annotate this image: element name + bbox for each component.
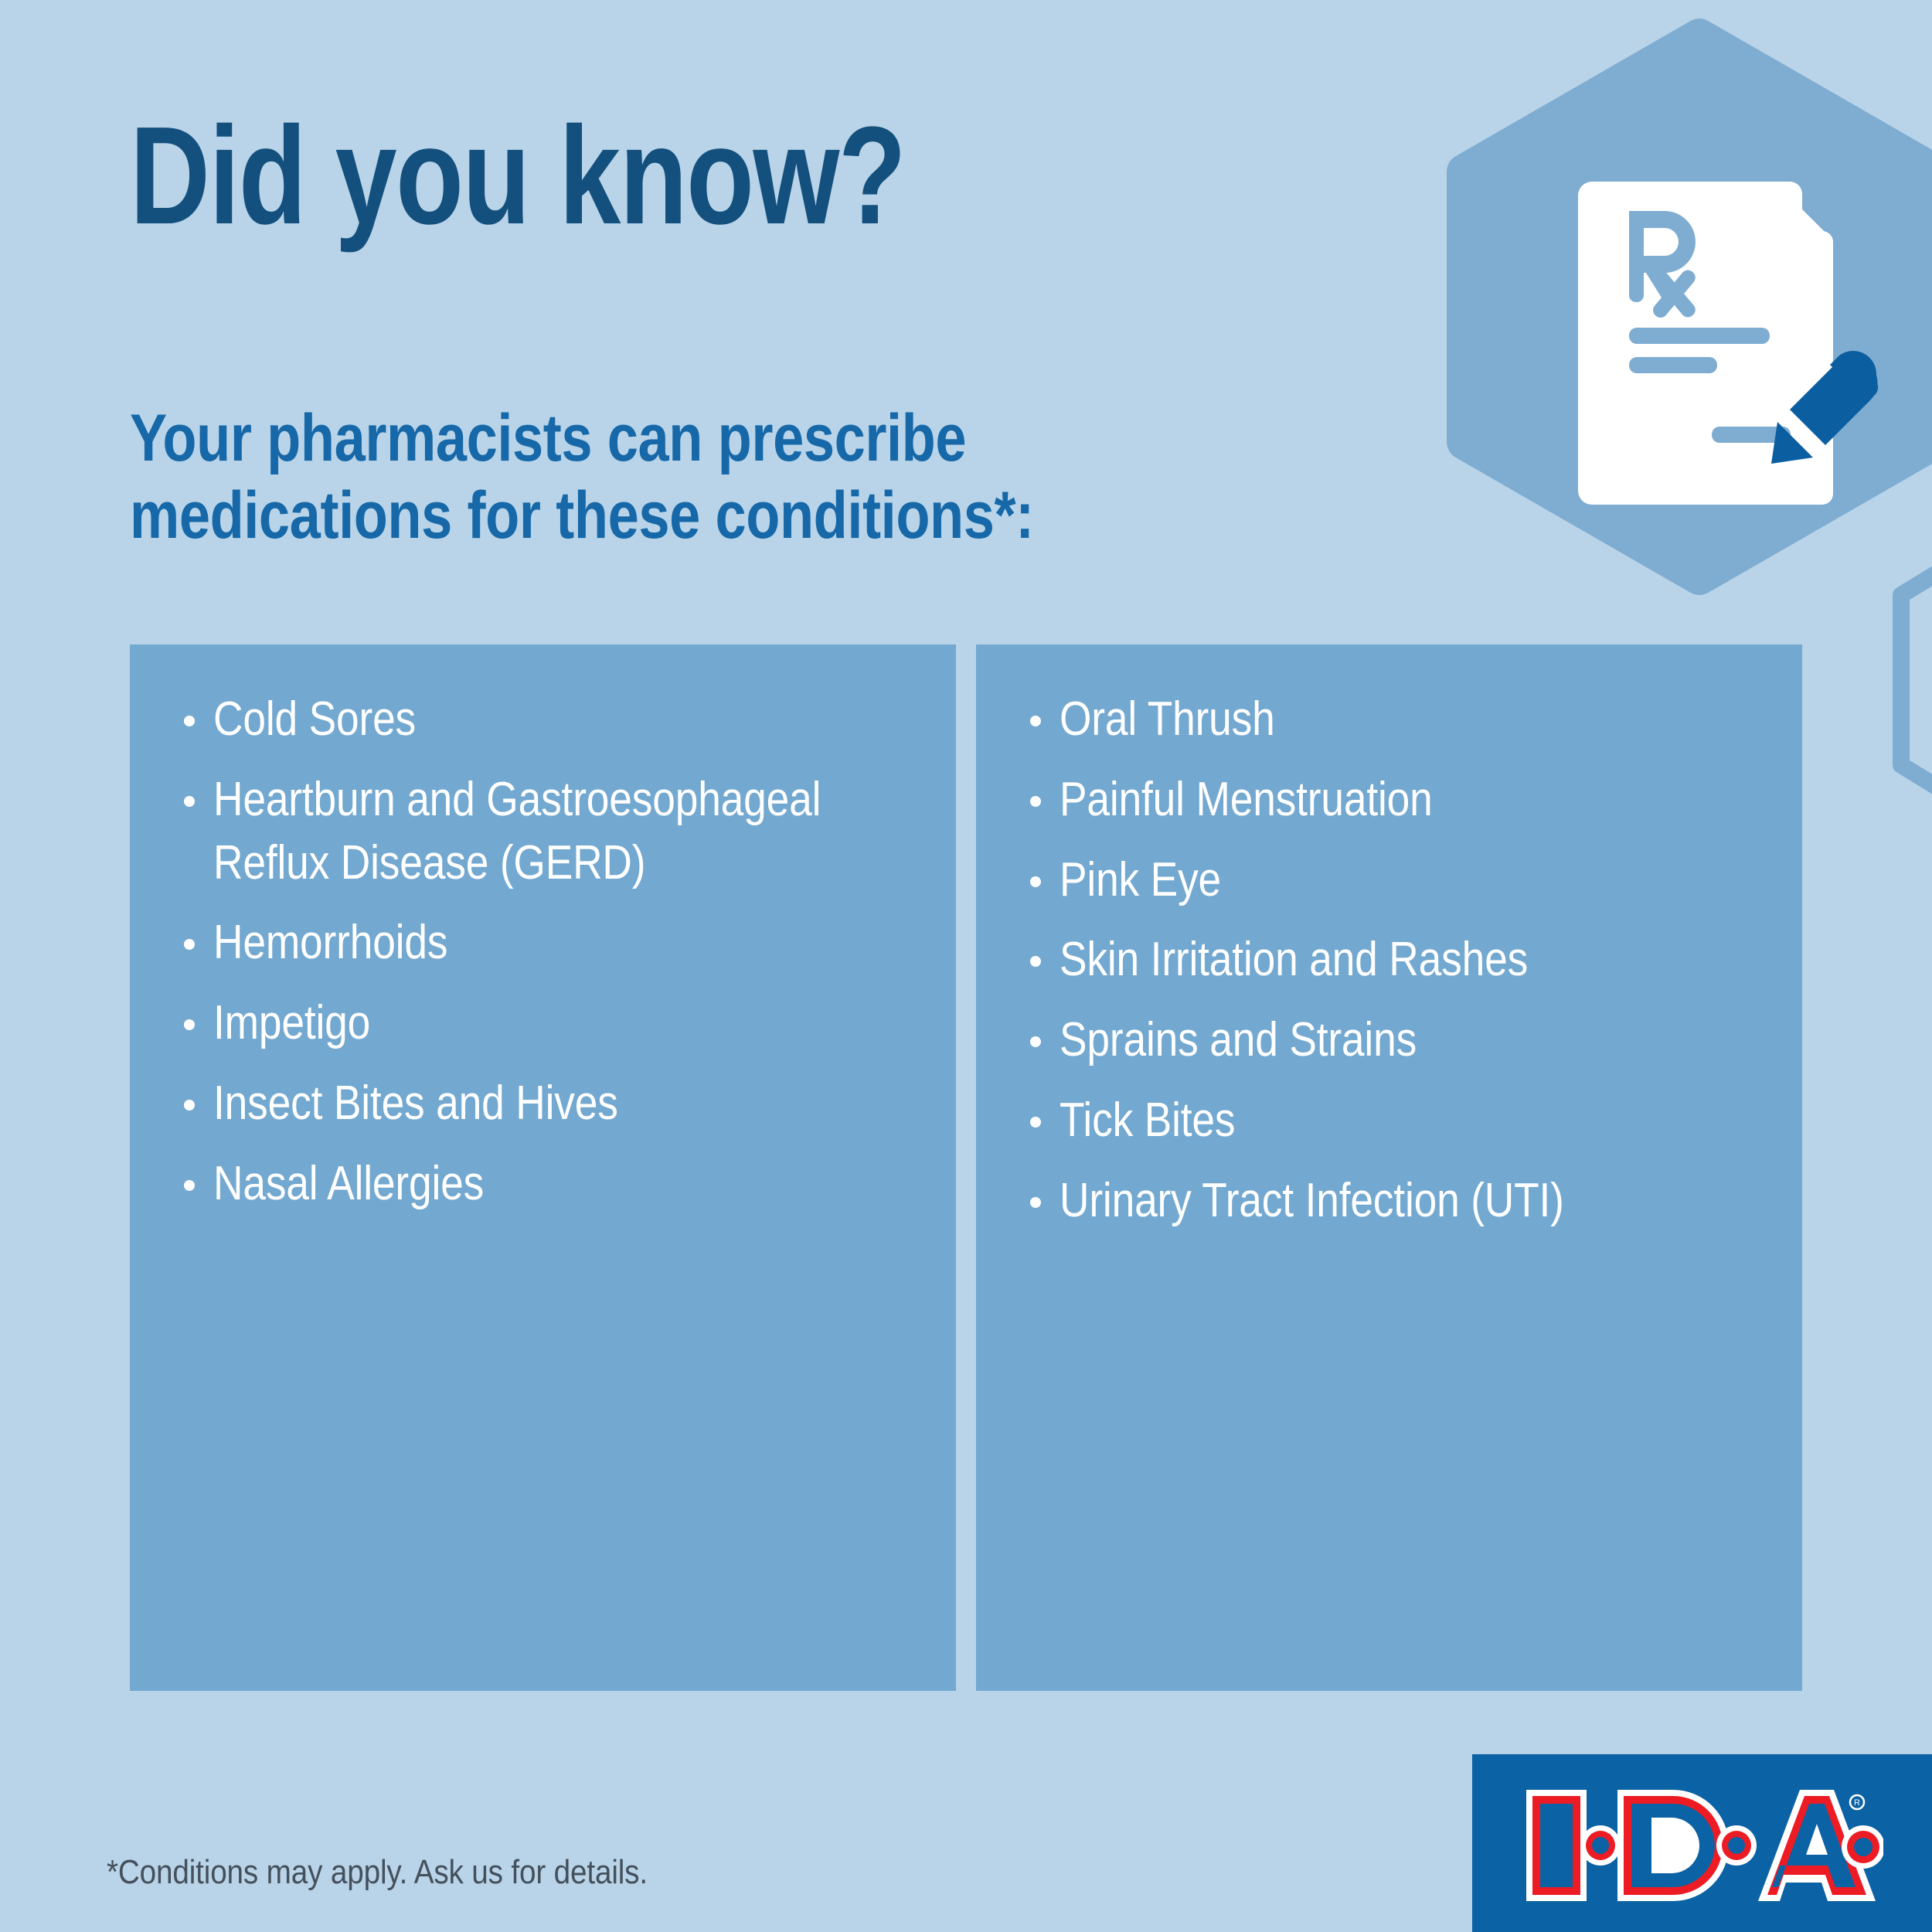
conditions-panels: Cold Sores Heartburn and Gastroesophagea… <box>130 645 1802 1691</box>
condition-label: Painful Menstruation <box>1060 768 1433 832</box>
pen-icon <box>1771 351 1878 464</box>
condition-label: Oral Thrush <box>1060 688 1275 751</box>
list-item: Nasal Allergies <box>181 1152 925 1216</box>
ida-logo-block: R <box>1472 1754 1932 1932</box>
page-subtitle: Your pharmacists can prescribe medicatio… <box>130 400 1034 555</box>
condition-label: Cold Sores <box>213 688 416 751</box>
subtitle-line-1: Your pharmacists can prescribe <box>130 400 1034 478</box>
conditions-panel-right: Oral Thrush Painful Menstruation Pink Ey… <box>976 645 1802 1691</box>
conditions-list-right: Oral Thrush Painful Menstruation Pink Ey… <box>1007 688 1771 1233</box>
footnote-disclaimer: *Conditions may apply. Ask us for detail… <box>107 1853 648 1892</box>
condition-label: Impetigo <box>213 992 370 1055</box>
list-item: Hemorrhoids <box>181 911 925 975</box>
list-item: Heartburn and Gastroesophageal Reflux Di… <box>181 768 925 895</box>
list-item: Oral Thrush <box>1027 688 1771 751</box>
page-title: Did you know? <box>130 107 905 246</box>
condition-label: Urinary Tract Infection (UTI) <box>1060 1169 1564 1233</box>
list-item: Impetigo <box>181 992 925 1055</box>
ida-logo-letters <box>1526 1790 1883 1901</box>
registered-trademark-icon: R <box>1850 1795 1864 1809</box>
list-item: Painful Menstruation <box>1027 768 1771 832</box>
hexagon-outline-shape <box>1901 510 1932 850</box>
condition-label: Pink Eye <box>1060 849 1221 912</box>
svg-text:R: R <box>1854 1798 1860 1808</box>
condition-label: Hemorrhoids <box>213 911 447 975</box>
condition-label: Tick Bites <box>1060 1089 1235 1152</box>
condition-label: Nasal Allergies <box>213 1152 484 1216</box>
list-item: Skin Irritation and Rashes <box>1027 928 1771 992</box>
condition-label: Skin Irritation and Rashes <box>1060 928 1528 992</box>
condition-label: Insect Bites and Hives <box>213 1072 618 1135</box>
list-item: Tick Bites <box>1027 1089 1771 1152</box>
list-item: Sprains and Strains <box>1027 1009 1771 1072</box>
list-item: Insect Bites and Hives <box>181 1072 925 1135</box>
ida-logo: R <box>1520 1784 1883 1907</box>
conditions-panel-left: Cold Sores Heartburn and Gastroesophagea… <box>130 645 956 1691</box>
list-item: Urinary Tract Infection (UTI) <box>1027 1169 1771 1233</box>
subtitle-line-2: medications for these conditions*: <box>130 478 1034 555</box>
hexagon-shape <box>1464 36 1932 577</box>
list-item: Pink Eye <box>1027 849 1771 912</box>
condition-label: Heartburn and Gastroesophageal Reflux Di… <box>213 768 825 895</box>
list-item: Cold Sores <box>181 688 925 751</box>
conditions-list-left: Cold Sores Heartburn and Gastroesophagea… <box>161 688 925 1216</box>
condition-label: Sprains and Strains <box>1060 1009 1417 1072</box>
poster-canvas: Did you know? Your pharmacists can presc… <box>0 0 1932 1932</box>
rx-symbol-icon <box>1629 211 1698 321</box>
